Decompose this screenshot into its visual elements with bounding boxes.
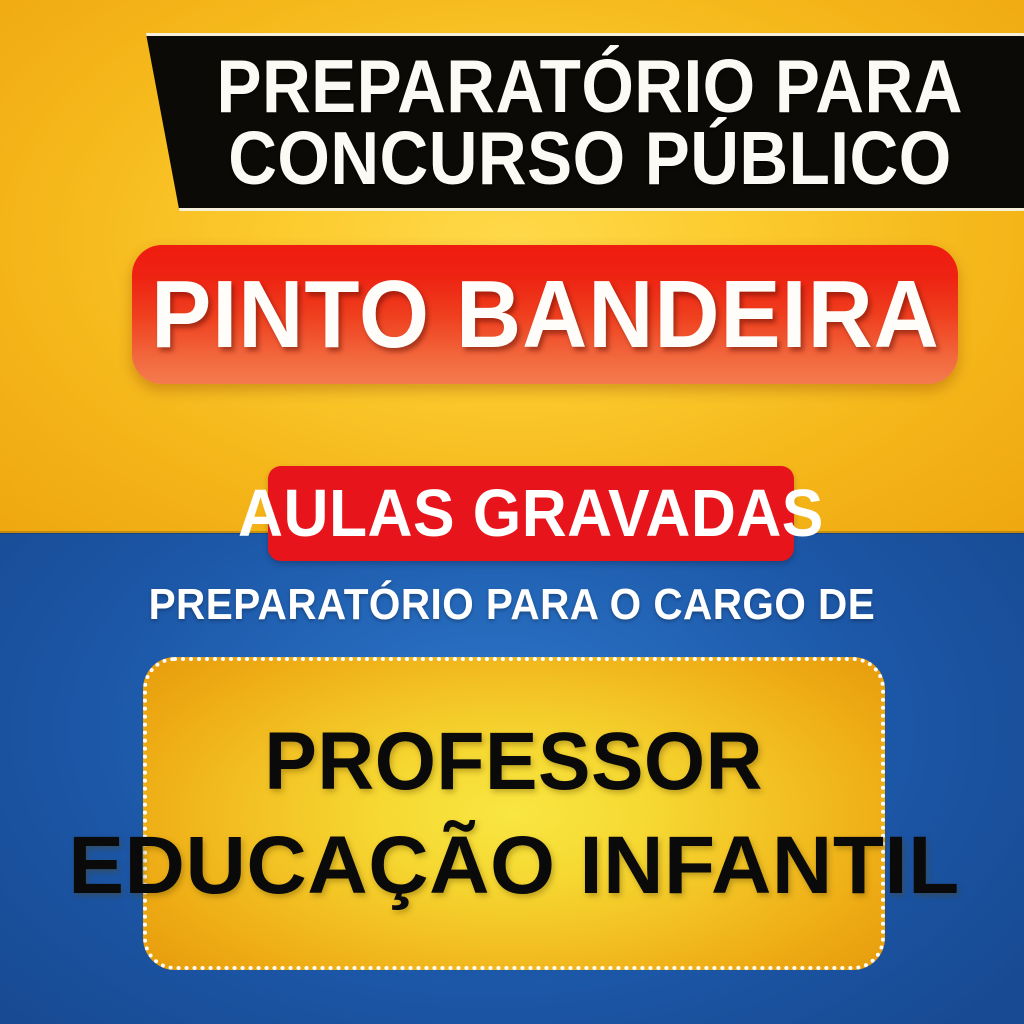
role-panel: PROFESSOR EDUCAÇÃO INFANTIL: [143, 657, 885, 970]
city-button-label: PINTO BANDEIRA: [151, 267, 940, 363]
subtitle-text: PREPARATÓRIO PARA O CARGO DE: [149, 583, 876, 627]
promotional-poster: PREPARATÓRIO PARA CONCURSO PÚBLICO PINTO…: [0, 0, 1024, 1024]
mode-badge-label: AULAS GRAVADAS: [238, 480, 824, 547]
city-button[interactable]: PINTO BANDEIRA: [132, 245, 958, 384]
mode-badge: AULAS GRAVADAS: [268, 466, 794, 561]
role-line-2: EDUCAÇÃO INFANTIL: [68, 825, 960, 907]
role-line-1: PROFESSOR: [265, 721, 764, 803]
subtitle: PREPARATÓRIO PARA O CARGO DE: [0, 583, 1024, 627]
header-banner: [118, 33, 1024, 211]
